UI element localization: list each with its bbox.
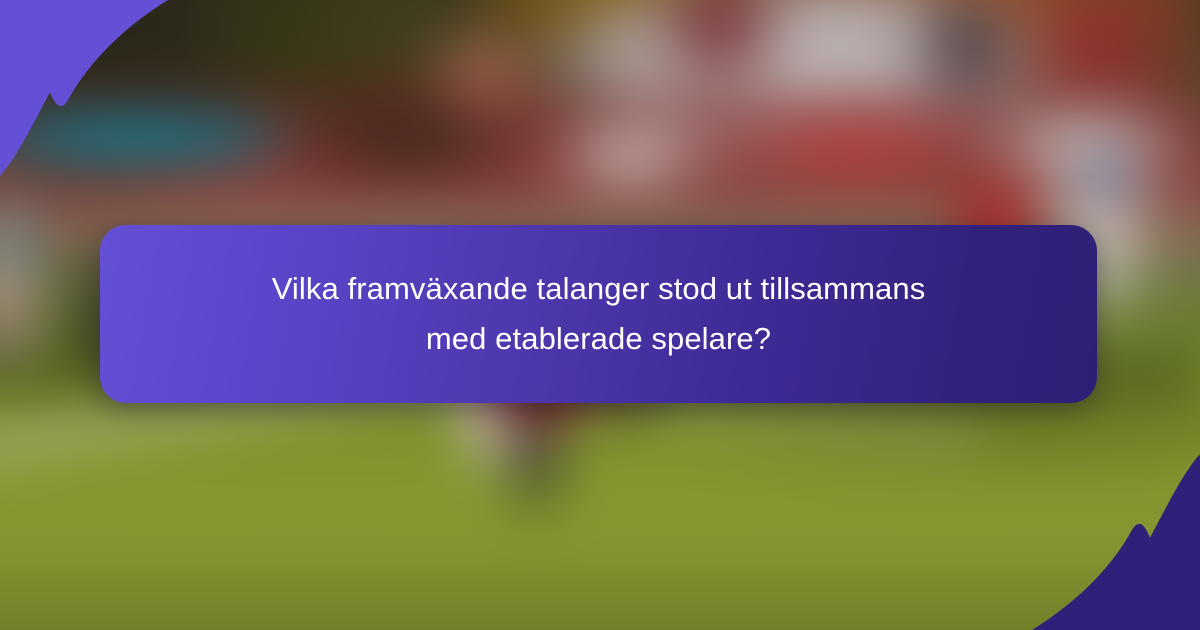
question-text: Vilka framväxande talanger stod ut tills… — [249, 264, 949, 364]
question-card: Vilka framväxande talanger stod ut tills… — [100, 225, 1097, 403]
share-card-canvas: Vilka framväxande talanger stod ut tills… — [0, 0, 1200, 630]
